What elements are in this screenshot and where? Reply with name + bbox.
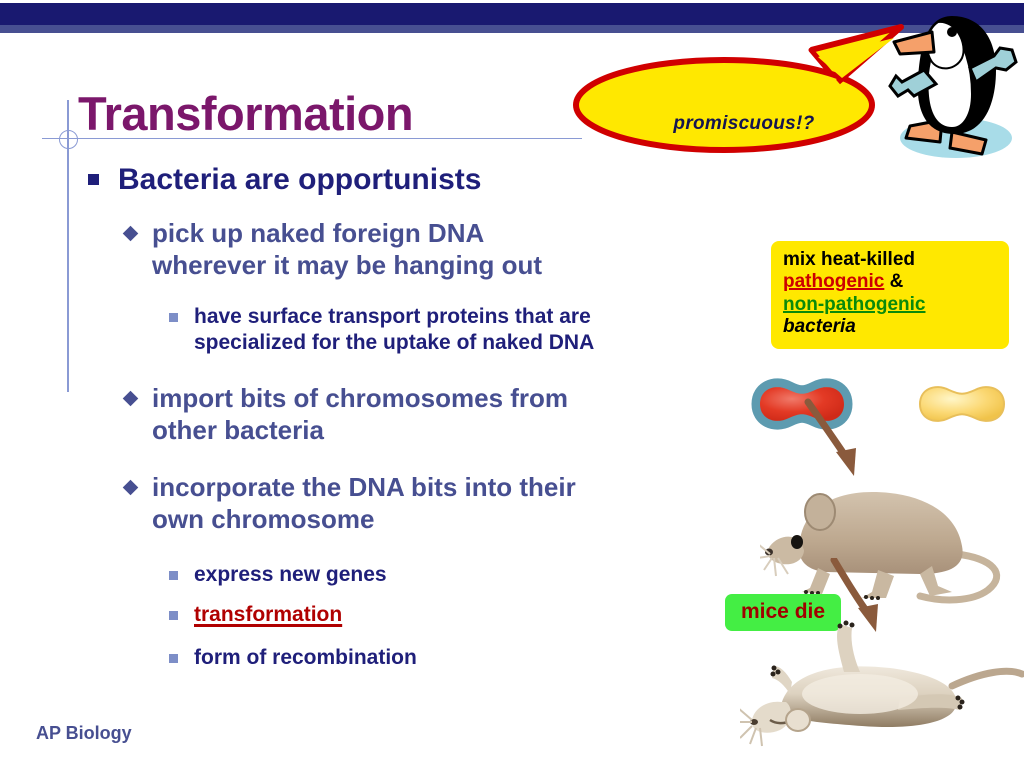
bullet-level3-line1: have surface transport proteins that are — [194, 304, 774, 330]
footer-label: AP Biology — [36, 723, 132, 744]
speech-bubble-text: promiscuous!? — [624, 113, 864, 135]
bullet-level2-line2: own chromosome — [152, 504, 632, 536]
non-pathogenic-bacterium — [920, 387, 1004, 421]
diamond-bullet-icon — [123, 226, 139, 242]
bullet-level3-label: express new genes — [194, 562, 614, 588]
bullet-level2-incorporate-dna: incorporate the DNA bits into their own … — [152, 472, 632, 536]
diamond-bullet-icon — [123, 391, 139, 407]
bullet-level1-label: Bacteria are opportunists — [118, 163, 481, 196]
bullet-level2-pick-up-dna: pick up naked foreign DNA wherever it ma… — [152, 218, 622, 282]
penguin-illustration — [880, 8, 1024, 168]
bullet-level2-line1: import bits of chromosomes from — [152, 383, 632, 415]
bullet-level2-line2: other bacteria — [152, 415, 632, 447]
bullet-level3-express-new-genes: express new genes — [194, 562, 614, 588]
mouse-on-back-dead — [740, 610, 1024, 768]
penguin-icon — [880, 8, 1024, 168]
mouse-dead-illustration — [740, 610, 1024, 768]
decorative-circle-icon — [59, 130, 78, 149]
bullet-level2-line1: pick up naked foreign DNA — [152, 218, 622, 250]
bullet-level3-label: form of recombination — [194, 645, 614, 671]
diamond-bullet-icon — [123, 480, 139, 496]
bullet-level3-form-of-recombination: form of recombination — [194, 645, 614, 671]
bullet-level3-label-highlight: transformation — [194, 602, 614, 628]
bullet-level2-import-chromosomes: import bits of chromosomes from other ba… — [152, 383, 632, 447]
bullet-level2-line2: wherever it may be hanging out — [152, 250, 622, 282]
bullet-level3-line2: specialized for the uptake of naked DNA — [194, 330, 774, 356]
note-pathogenic: pathogenic — [783, 271, 884, 292]
page-title: Transformation — [78, 86, 413, 141]
note-box-mix-bacteria: mix heat-killed pathogenic & non-pathoge… — [771, 241, 1009, 349]
small-square-bullet-icon — [169, 313, 178, 322]
small-square-bullet-icon — [169, 654, 178, 663]
slide-canvas: Transformation Bacteria are opportunists… — [0, 0, 1024, 768]
square-bullet-icon — [88, 174, 99, 185]
note-line-1: mix heat-killed — [783, 249, 999, 271]
note-ampersand: & — [884, 271, 903, 292]
bullet-level3-transformation: transformation — [194, 602, 614, 628]
small-square-bullet-icon — [169, 611, 178, 620]
bullet-level2-line1: incorporate the DNA bits into their — [152, 472, 632, 504]
note-bacteria: bacteria — [783, 316, 999, 338]
small-square-bullet-icon — [169, 571, 178, 580]
note-line-2: pathogenic & — [783, 271, 999, 293]
note-non-pathogenic: non-pathogenic — [783, 294, 999, 316]
bullet-level3-transport-proteins: have surface transport proteins that are… — [194, 304, 774, 357]
